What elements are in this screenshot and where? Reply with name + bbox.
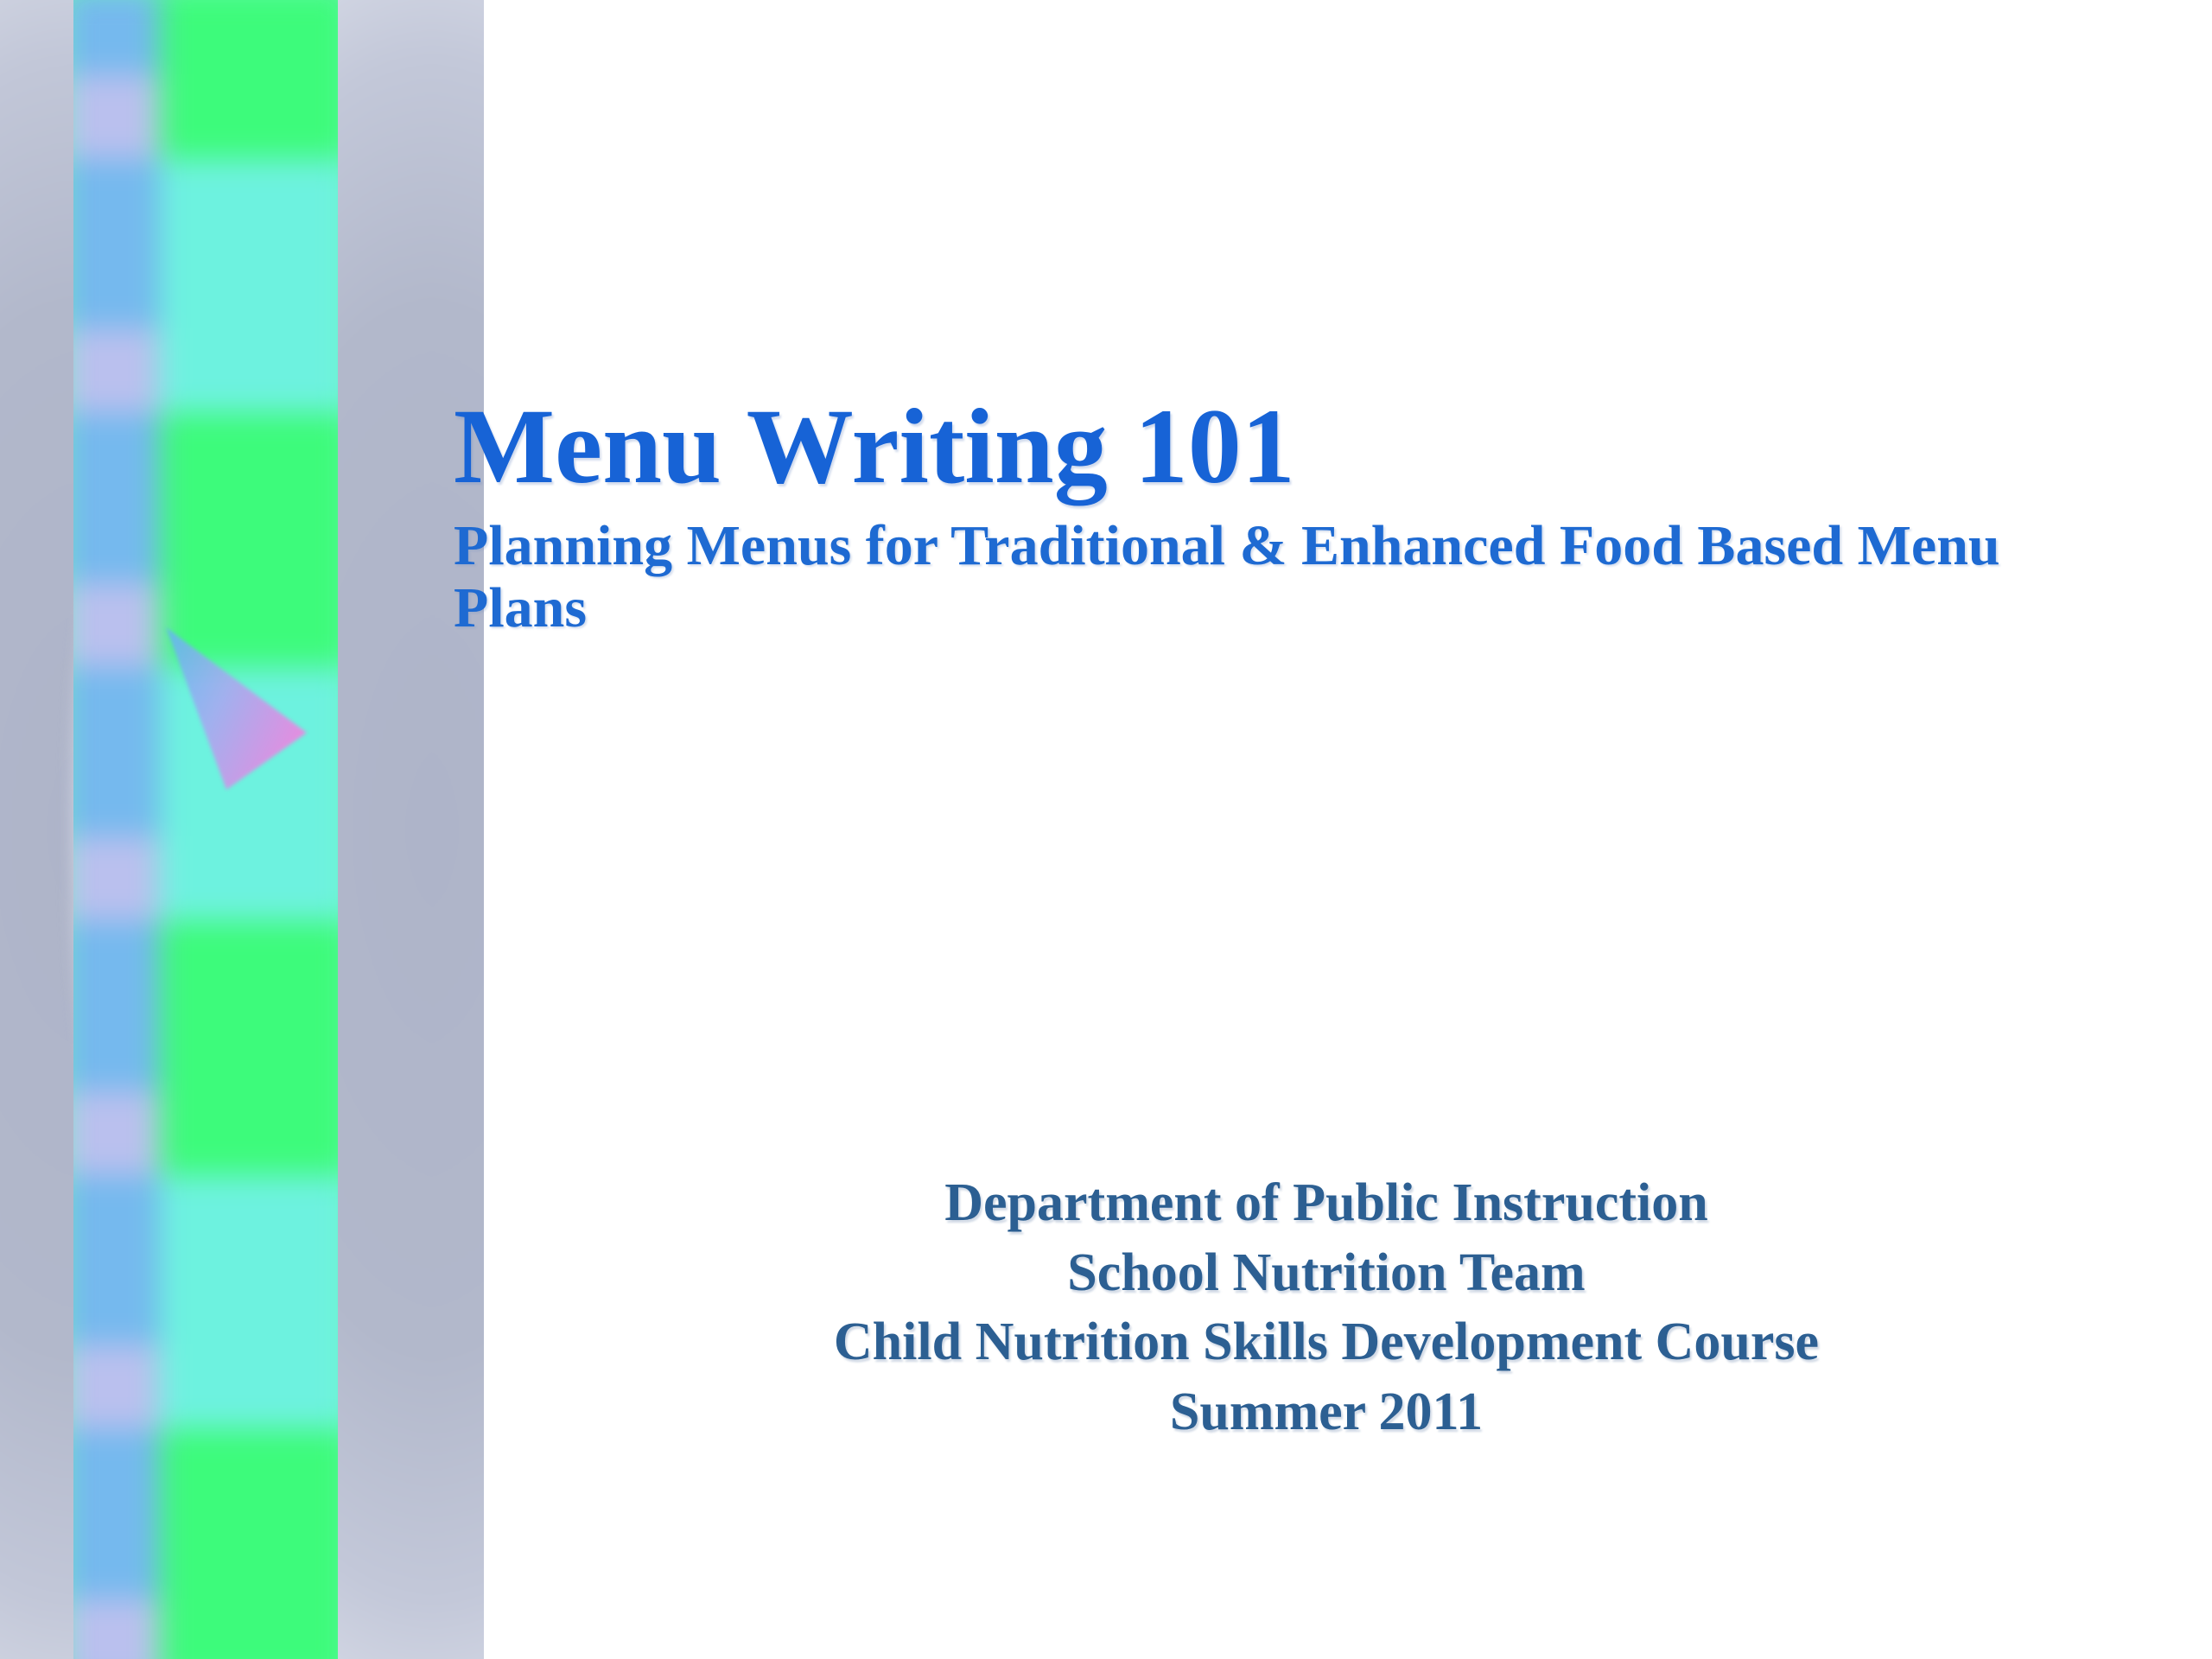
credit-line-course: Child Nutrition Skills Development Cours… <box>484 1307 2169 1377</box>
presentation-slide: Menu Writing 101 Planning Menus for Trad… <box>0 0 2212 1659</box>
credits-block: Department of Public Instruction School … <box>484 1168 2169 1446</box>
slide-title: Menu Writing 101 <box>454 391 2095 503</box>
slide-subtitle: Planning Menus for Traditional & Enhance… <box>454 515 2095 639</box>
grey-lens-right <box>73 0 484 1659</box>
checkered-color-strip <box>73 0 338 1659</box>
credit-line-term: Summer 2011 <box>484 1377 2169 1447</box>
checker-cells <box>73 0 338 1659</box>
credit-line-organization: Department of Public Instruction <box>484 1168 2169 1238</box>
title-block: Menu Writing 101 Planning Menus for Trad… <box>454 391 2095 639</box>
left-decoration-band <box>0 0 484 1659</box>
credit-line-team: School Nutrition Team <box>484 1238 2169 1308</box>
grey-lens-left <box>0 0 432 1659</box>
